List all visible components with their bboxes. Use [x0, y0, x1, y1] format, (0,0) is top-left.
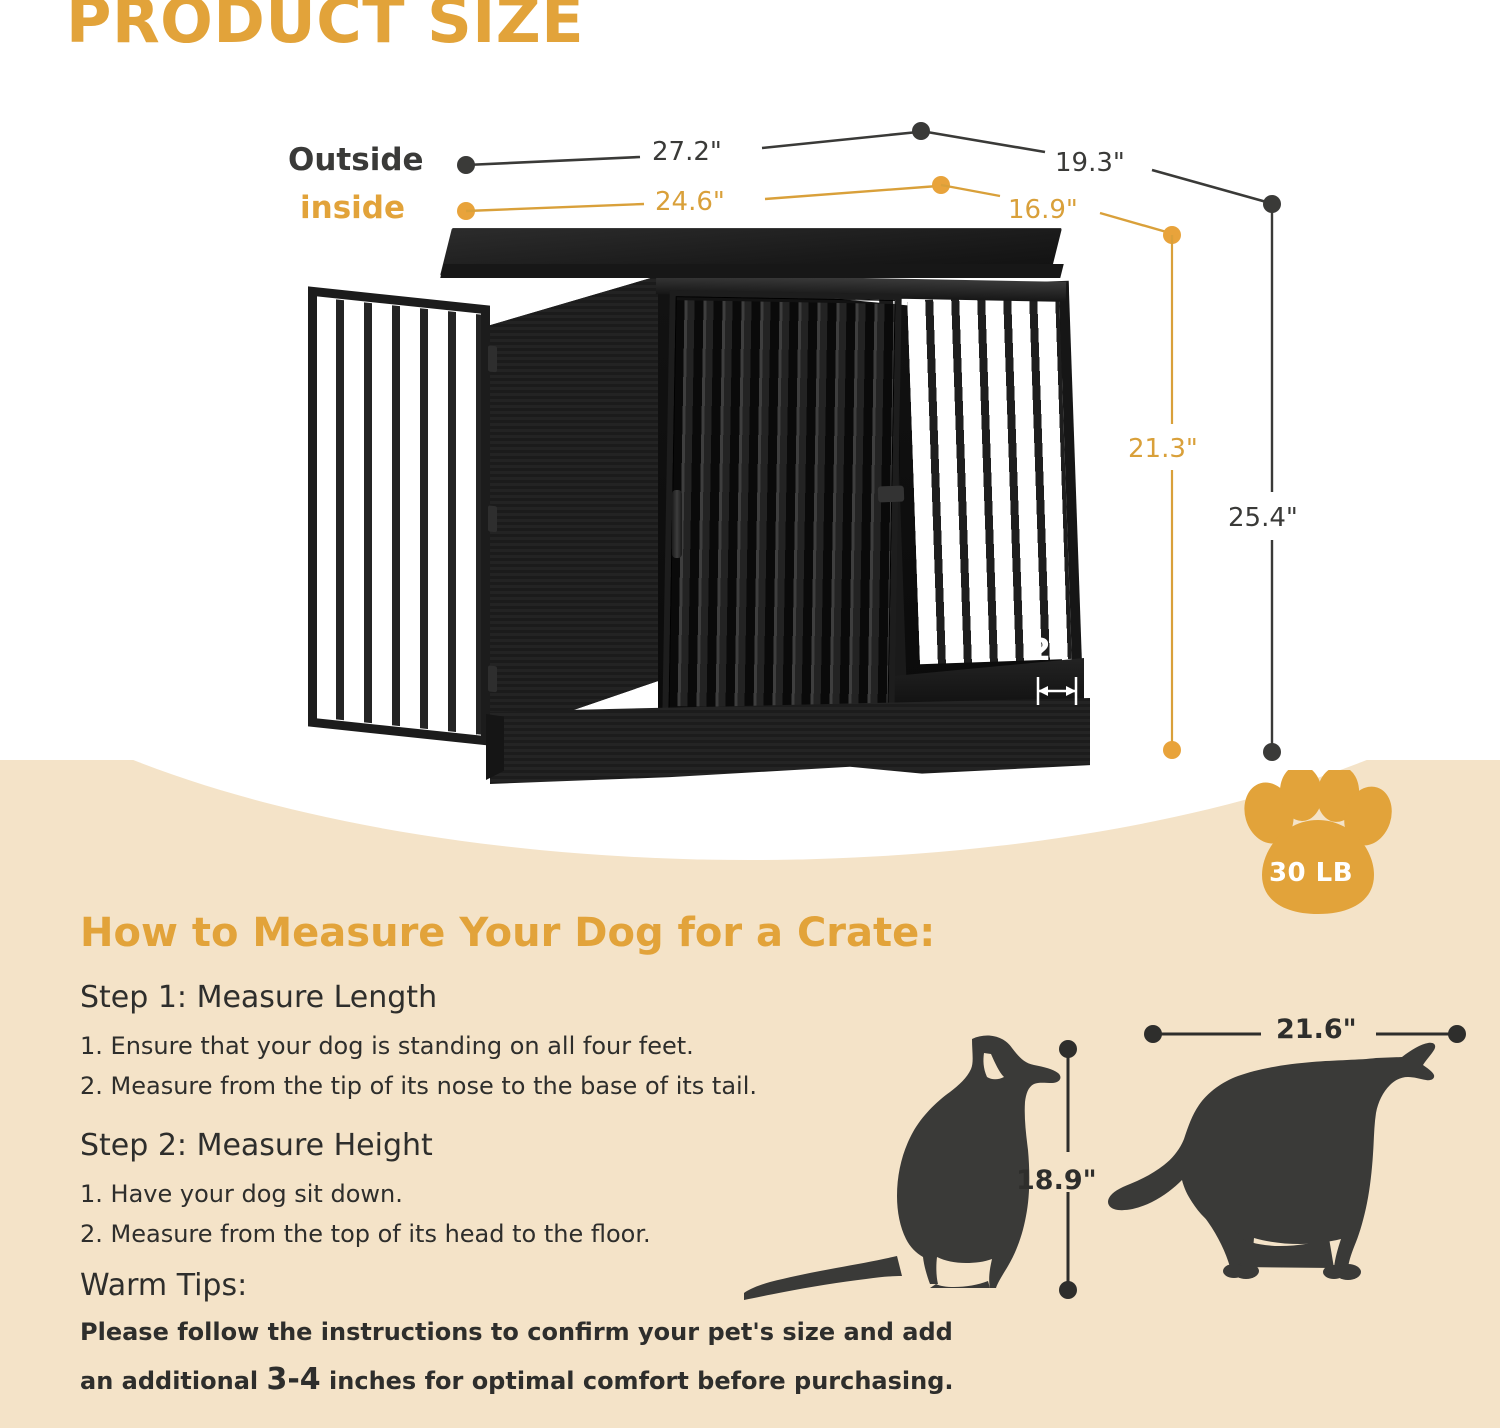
legend-inside-label: inside: [300, 190, 405, 226]
guide-heading: How to Measure Your Dog for a Crate:: [80, 910, 935, 956]
weight-capacity-badge: 30 LB: [1222, 770, 1400, 920]
crate-base-plinth: [490, 698, 1090, 784]
crate-left-leg: [486, 714, 504, 780]
crate-hinge-mid-icon: [488, 505, 497, 532]
warm-tips-title: Warm Tips:: [80, 1268, 247, 1303]
outside-width-end-dot: [912, 122, 930, 140]
weight-badge-label: 30 LB: [1222, 858, 1400, 888]
outside-width-start-dot: [457, 156, 475, 174]
crate-left-side-panel: [486, 270, 678, 740]
inside-width-start-dot: [457, 202, 475, 220]
dog-length-value: 21.6": [1276, 1014, 1357, 1045]
legend-outside-label: Outside: [288, 142, 424, 178]
outside-height-end-dot: [1263, 743, 1281, 761]
outside-height-value: 25.4": [1228, 503, 1298, 533]
product-size-infographic: PRODUCT SIZE Outside inside: [0, 0, 1500, 1428]
step1-title: Step 1: Measure Length: [80, 980, 437, 1015]
inside-width-value: 24.6": [655, 187, 725, 217]
paw-icon: [1222, 770, 1400, 920]
standing-dog-silhouette: [1108, 1043, 1435, 1280]
outside-width-value: 27.2": [652, 137, 722, 167]
bar-gap-label: 2": [1030, 633, 1067, 668]
inside-depth-end-dot: [1163, 226, 1181, 244]
warm-tips-line-2-post: inches for optimal comfort before purcha…: [321, 1367, 954, 1395]
dog-silhouettes-figure: [740, 1010, 1480, 1340]
bar-gap-callout: 2": [1030, 633, 1140, 713]
crate-top-lip: [440, 264, 1063, 278]
crate-hinge-bottom-icon: [488, 665, 497, 692]
crate-sliding-door: [662, 290, 901, 724]
crate-door-handle: [672, 490, 682, 558]
crate-door-latch: [878, 486, 905, 503]
inside-width-end-dot: [932, 176, 950, 194]
warm-tips-line-2: an additional 3-4 inches for optimal com…: [80, 1362, 954, 1397]
sitting-dog-silhouette: [744, 1036, 1060, 1300]
step1-line-2: 2. Measure from the tip of its nose to t…: [80, 1072, 757, 1100]
outside-depth-value: 19.3": [1055, 148, 1125, 178]
warm-tips-inches-emphasis: 3-4: [266, 1362, 320, 1397]
crate-open-door-frame: [308, 286, 490, 745]
inside-depth-value: 16.9": [1008, 195, 1078, 225]
crate-hinge-top-icon: [488, 345, 497, 372]
crate-sliding-door-frame: [662, 290, 901, 724]
step2-line-1: 1. Have your dog sit down.: [80, 1180, 403, 1208]
step1-line-1: 1. Ensure that your dog is standing on a…: [80, 1032, 694, 1060]
crate-open-left-door: [308, 286, 490, 745]
step2-line-2: 2. Measure from the top of its head to t…: [80, 1220, 651, 1248]
inside-height-value: 21.3": [1128, 434, 1198, 464]
page-title: PRODUCT SIZE: [66, 0, 584, 53]
inside-height-end-dot: [1163, 741, 1181, 759]
outside-depth-end-dot: [1263, 195, 1281, 213]
warm-tips-line-2-pre: an additional: [80, 1367, 266, 1395]
dog-crate-illustration: 2": [290, 228, 1110, 788]
step2-title: Step 2: Measure Height: [80, 1128, 433, 1163]
dog-height-value: 18.9": [1016, 1165, 1097, 1196]
